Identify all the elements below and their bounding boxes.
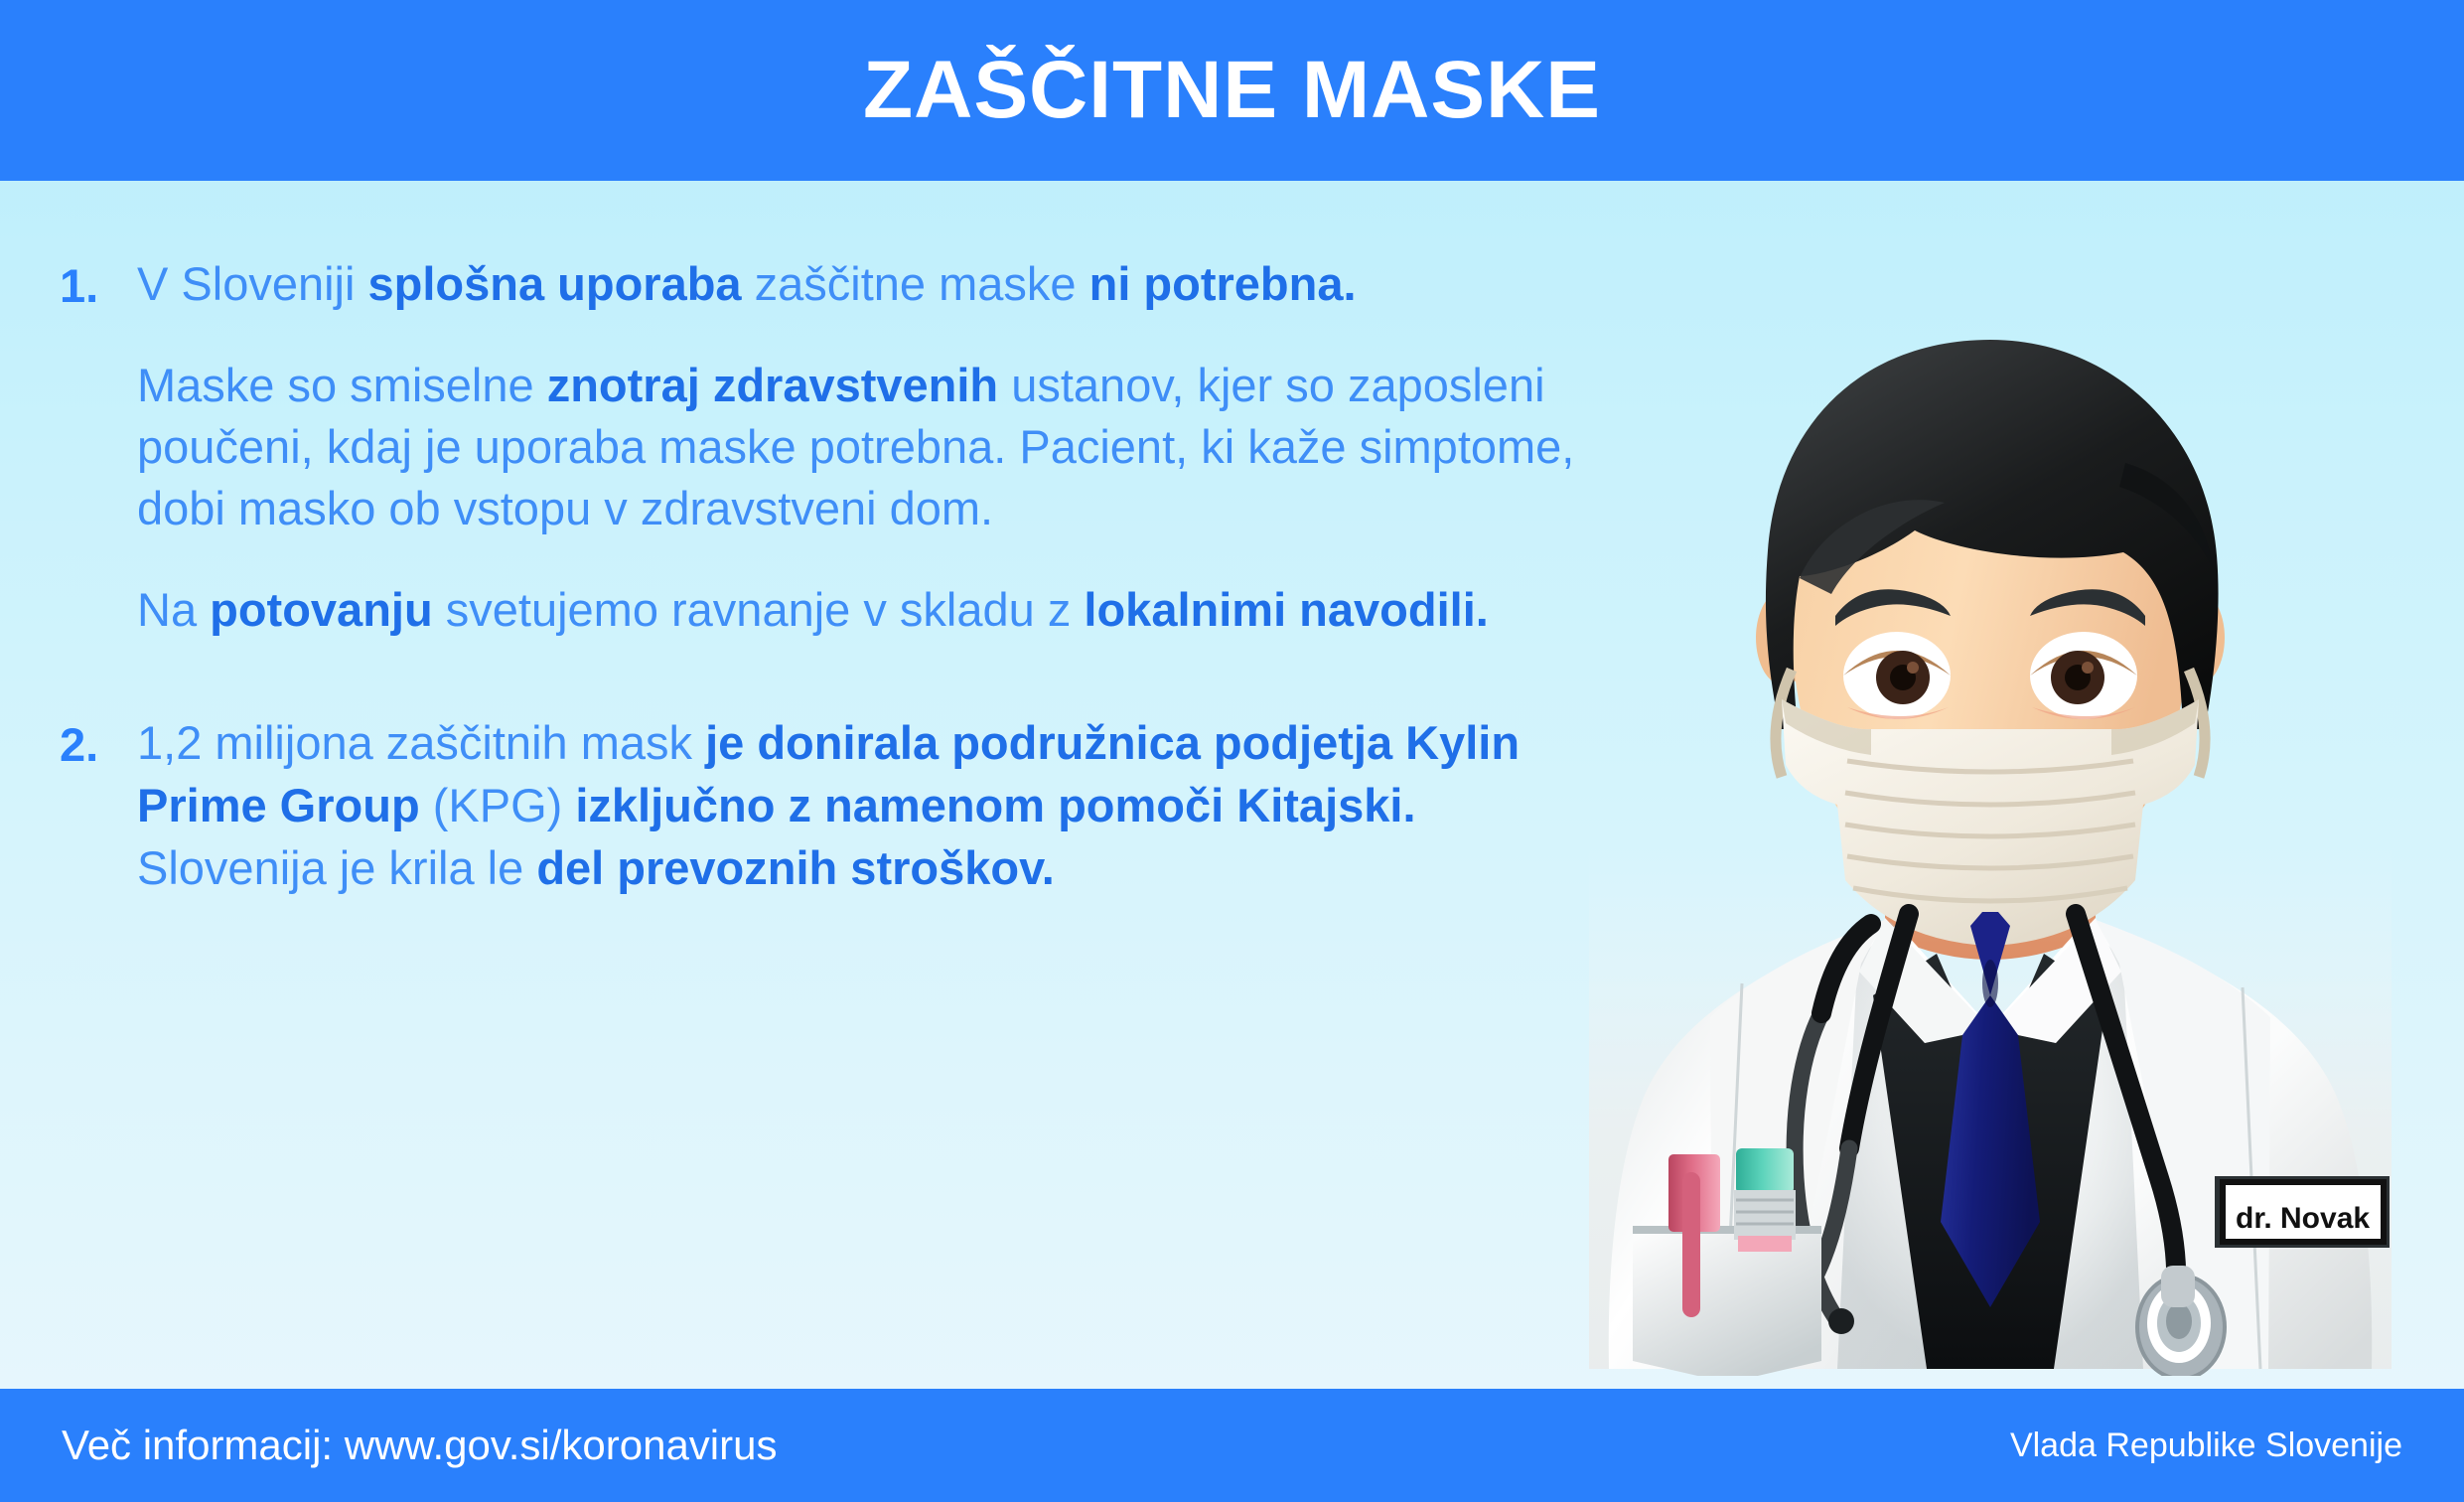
- body-text: V Sloveniji: [137, 257, 368, 310]
- list-item: 2. 1,2 milijona zaščitnih mask je donira…: [60, 712, 1609, 900]
- body-text: Na: [137, 583, 210, 636]
- page-title: ZAŠČITNE MASKE: [863, 50, 1601, 131]
- footer-bar: Več informacij: www.gov.si/koronavirus V…: [0, 1389, 2464, 1502]
- emphasis-text: potovanju: [210, 583, 433, 636]
- body-text: Maske so smiselne: [137, 359, 547, 411]
- infographic-poster: ZAŠČITNE MASKE 1. V Sloveniji splošna up…: [0, 0, 2464, 1502]
- list-item-number: 2.: [60, 712, 137, 776]
- list-item-number: 1.: [60, 253, 137, 317]
- list-item-body: V Sloveniji splošna uporaba zaščitne mas…: [137, 253, 1609, 641]
- emphasis-text: znotraj zdravstvenih: [547, 359, 998, 411]
- footer-more-info-link[interactable]: Več informacij: www.gov.si/koronavirus: [62, 1425, 777, 1466]
- body-text: 1,2 milijona zaščitnih mask: [137, 716, 705, 769]
- emphasis-text: lokalnimi navodili.: [1084, 583, 1488, 636]
- body-text: svetujemo ravnanje v skladu z: [433, 583, 1085, 636]
- body-text: (KPG): [420, 779, 576, 831]
- list-item-body: 1,2 milijona zaščitnih mask je donirala …: [137, 712, 1609, 900]
- illustration-group: [1589, 340, 2392, 1376]
- emphasis-text: izključno z namenom pomoči Kitajski.: [575, 779, 1415, 831]
- paragraph: Na potovanju svetujemo ravnanje v skladu…: [137, 579, 1609, 641]
- list-item: 1. V Sloveniji splošna uporaba zaščitne …: [60, 253, 1609, 641]
- body-text: Slovenija je krila le: [137, 841, 536, 894]
- chest-pocket: [1633, 1226, 1821, 1376]
- emphasis-text: ni potrebna.: [1089, 257, 1357, 310]
- header-bar: ZAŠČITNE MASKE: [0, 0, 2464, 181]
- paragraph: Maske so smiselne znotraj zdravstvenih u…: [137, 355, 1609, 539]
- emphasis-text: splošna uporaba: [368, 257, 742, 310]
- emphasis-text: del prevoznih stroškov.: [536, 841, 1054, 894]
- name-badge: [2215, 1176, 2390, 1248]
- doctor-illustration: [1587, 328, 2393, 1376]
- paragraph: 1,2 milijona zaščitnih mask je donirala …: [137, 712, 1609, 900]
- content-column: 1. V Sloveniji splošna uporaba zaščitne …: [60, 253, 1609, 900]
- paragraph: V Sloveniji splošna uporaba zaščitne mas…: [137, 253, 1609, 315]
- footer-publisher: Vlada Republike Slovenije: [2010, 1428, 2402, 1462]
- body-text: zaščitne maske: [742, 257, 1089, 310]
